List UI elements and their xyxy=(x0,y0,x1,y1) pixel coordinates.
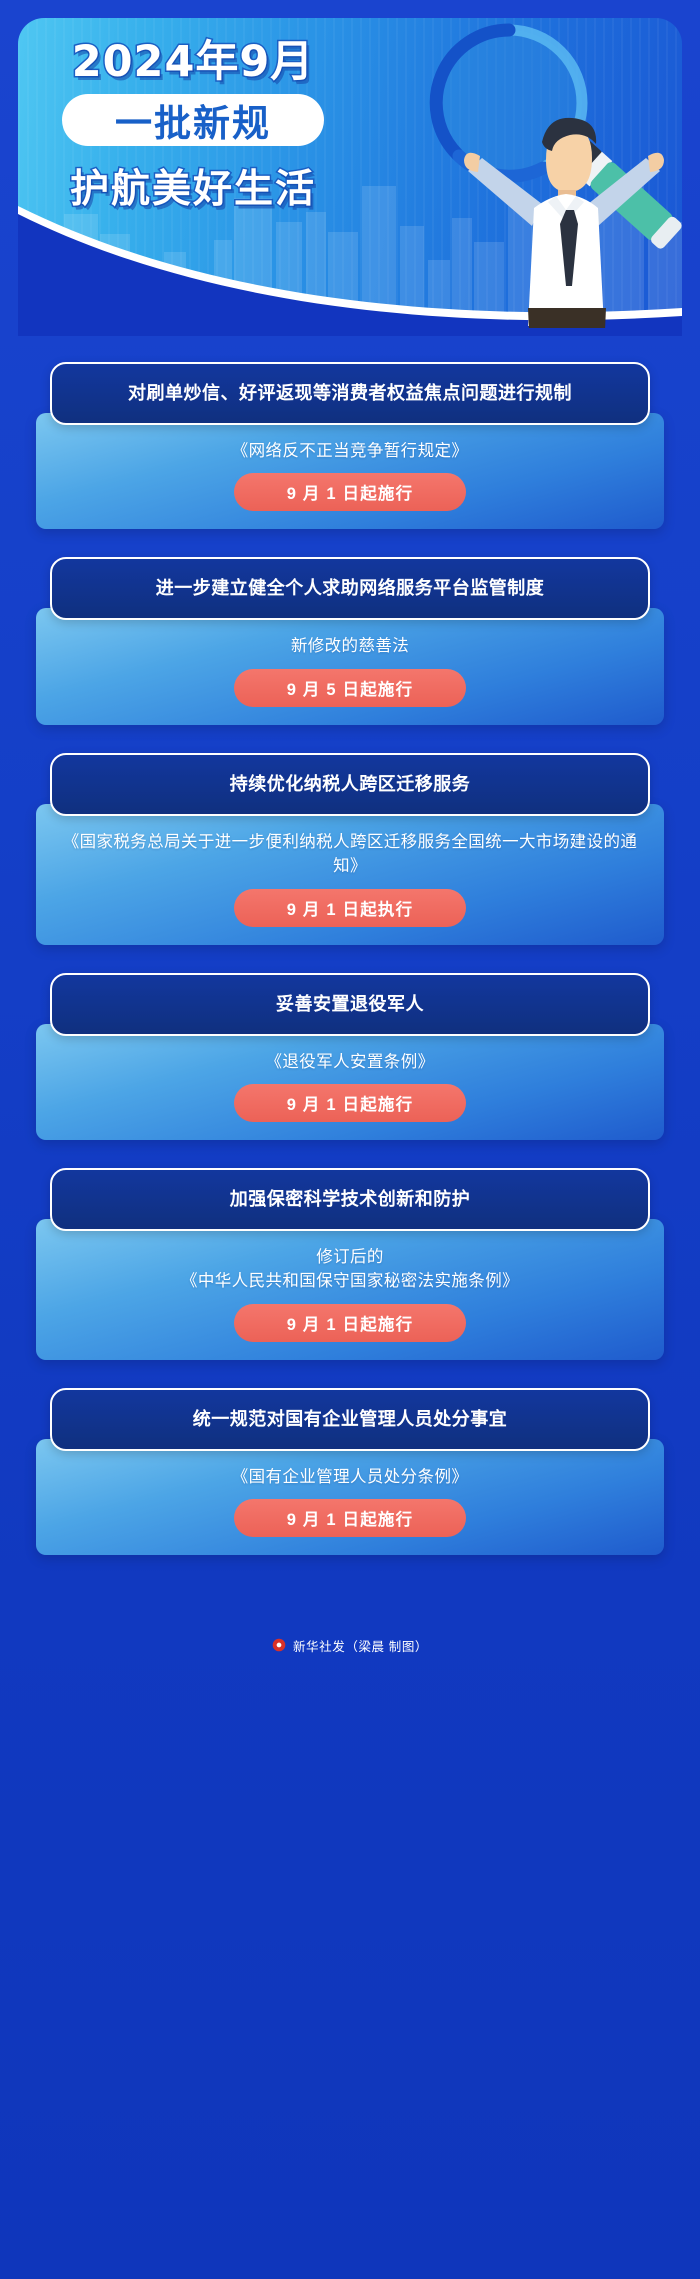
regulation-card-list: 对刷单炒信、好评返现等消费者权益焦点问题进行规制 《网络反不正当竞争暂行规定》 … xyxy=(0,352,700,1555)
card-body: 新修改的慈善法 9 月 5 日起施行 xyxy=(36,608,664,724)
card-body: 《国有企业管理人员处分条例》 9 月 1 日起施行 xyxy=(36,1439,664,1555)
card-headline: 对刷单炒信、好评返现等消费者权益焦点问题进行规制 xyxy=(50,362,650,425)
xinhua-logo-icon xyxy=(272,1638,286,1652)
card-headline: 进一步建立健全个人求助网络服务平台监管制度 xyxy=(50,557,650,620)
card-subtitle: 修订后的 《中华人民共和国保守国家秘密法实施条例》 xyxy=(56,1245,644,1294)
regulation-card[interactable]: 妥善安置退役军人 《退役军人安置条例》 9 月 1 日起施行 xyxy=(36,973,664,1140)
hero-title-group: 2024年9月 一批新规 护航美好生活 xyxy=(28,40,358,214)
card-body: 《国家税务总局关于进一步便利纳税人跨区迁移服务全国统一大市场建设的通知》 9 月… xyxy=(36,804,664,945)
card-headline: 妥善安置退役军人 xyxy=(50,973,650,1036)
card-effective-date-badge: 9 月 1 日起施行 xyxy=(234,1499,466,1537)
card-subtitle: 《国有企业管理人员处分条例》 xyxy=(56,1465,644,1489)
card-subtitle: 《国家税务总局关于进一步便利纳税人跨区迁移服务全国统一大市场建设的通知》 xyxy=(56,830,644,879)
card-effective-date-badge: 9 月 5 日起施行 xyxy=(234,669,466,707)
card-headline: 统一规范对国有企业管理人员处分事宜 xyxy=(50,1388,650,1451)
hero-title-pill-text: 一批新规 xyxy=(115,93,271,147)
card-headline: 持续优化纳税人跨区迁移服务 xyxy=(50,753,650,816)
regulation-card[interactable]: 加强保密科学技术创新和防护 修订后的 《中华人民共和国保守国家秘密法实施条例》 … xyxy=(36,1168,664,1360)
hero-title-slogan: 护航美好生活 xyxy=(28,158,358,214)
infographic-page: 2024年9月 一批新规 护航美好生活 对刷单炒信、好评返现等消费者权益焦点问题… xyxy=(0,0,700,2279)
regulation-card[interactable]: 对刷单炒信、好评返现等消费者权益焦点问题进行规制 《网络反不正当竞争暂行规定》 … xyxy=(36,362,664,529)
regulation-card[interactable]: 统一规范对国有企业管理人员处分事宜 《国有企业管理人员处分条例》 9 月 1 日… xyxy=(36,1388,664,1555)
hero-illustration xyxy=(384,8,694,328)
hero-title-pill: 一批新规 xyxy=(62,94,324,146)
card-body: 修订后的 《中华人民共和国保守国家秘密法实施条例》 9 月 1 日起施行 xyxy=(36,1219,664,1360)
card-effective-date-badge: 9 月 1 日起施行 xyxy=(234,473,466,511)
hero-title-date: 2024年9月 xyxy=(28,40,358,85)
card-subtitle: 新修改的慈善法 xyxy=(56,634,644,658)
card-subtitle: 《网络反不正当竞争暂行规定》 xyxy=(56,439,644,463)
card-effective-date-badge: 9 月 1 日起施行 xyxy=(234,1084,466,1122)
card-effective-date-badge: 9 月 1 日起执行 xyxy=(234,889,466,927)
regulation-card[interactable]: 进一步建立健全个人求助网络服务平台监管制度 新修改的慈善法 9 月 5 日起施行 xyxy=(36,557,664,724)
regulation-card[interactable]: 持续优化纳税人跨区迁移服务 《国家税务总局关于进一步便利纳税人跨区迁移服务全国统… xyxy=(36,753,664,945)
footer-credit-bar: 新华社发（梁晨 制图） xyxy=(0,1583,700,1693)
card-body: 《退役军人安置条例》 9 月 1 日起施行 xyxy=(36,1024,664,1140)
footer-credit-text: 新华社发（梁晨 制图） xyxy=(293,1636,428,1655)
card-subtitle: 《退役军人安置条例》 xyxy=(56,1050,644,1074)
hero-banner: 2024年9月 一批新规 护航美好生活 xyxy=(0,0,700,352)
card-headline: 加强保密科学技术创新和防护 xyxy=(50,1168,650,1231)
card-body: 《网络反不正当竞争暂行规定》 9 月 1 日起施行 xyxy=(36,413,664,529)
card-effective-date-badge: 9 月 1 日起施行 xyxy=(234,1304,466,1342)
